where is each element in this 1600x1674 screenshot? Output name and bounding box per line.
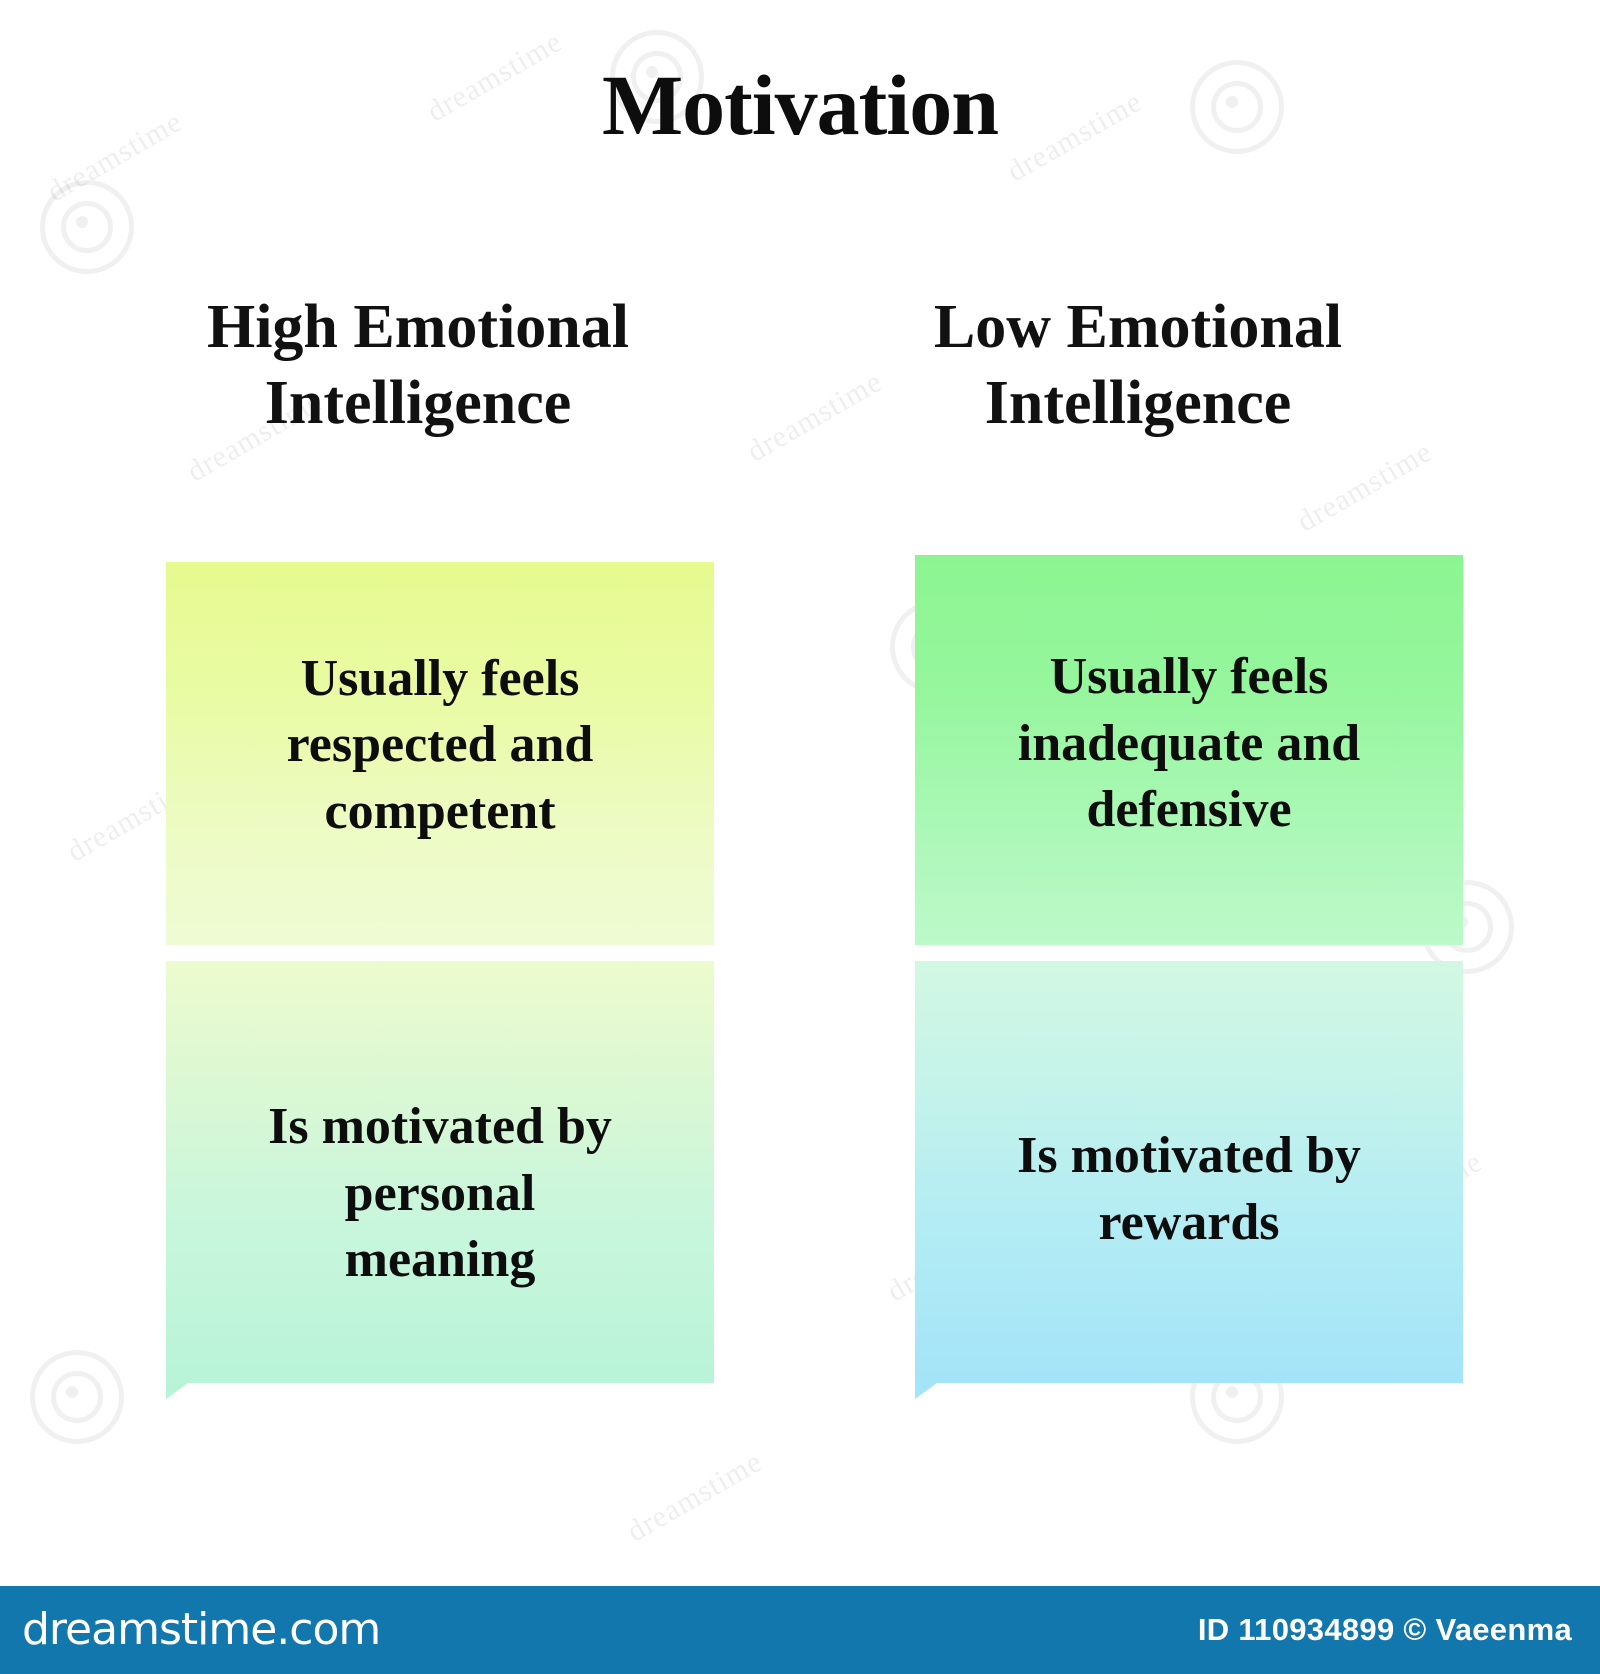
callout-box-low-ei-2: Is motivated by rewards <box>915 961 1463 1383</box>
callout-box-high-ei-2: Is motivated by personal meaning <box>166 961 714 1383</box>
callout-tail-high-ei <box>166 1383 188 1399</box>
column-heading-low-ei: Low Emotional Intelligence <box>838 290 1438 441</box>
callout-box-high-ei-1: Usually feels respected and competent <box>166 562 714 945</box>
spiral-icon <box>40 180 134 274</box>
spiral-icon <box>30 1350 124 1444</box>
callout-text: Usually feels respected and competent <box>192 646 688 846</box>
callout-tail-low-ei <box>915 1383 937 1399</box>
page-title: Motivation <box>0 62 1600 148</box>
column-heading-high-ei: High Emotional Intelligence <box>118 290 718 441</box>
callout-text: Is motivated by personal meaning <box>192 1094 688 1294</box>
footer-brand[interactable]: dreamstime.com <box>22 1604 380 1655</box>
watermark-text: dreamstime <box>622 1445 769 1549</box>
callout-text: Is motivated by rewards <box>941 1123 1437 1256</box>
footer-credit: ID 110934899 © Vaeenma <box>1198 1612 1572 1648</box>
callout-box-low-ei-1: Usually feels inadequate and defensive <box>915 555 1463 945</box>
footer-bar: dreamstime.com ID 110934899 © Vaeenma <box>0 1586 1600 1674</box>
watermark-text: dreamstime <box>1292 435 1439 539</box>
callout-text: Usually feels inadequate and defensive <box>941 644 1437 844</box>
